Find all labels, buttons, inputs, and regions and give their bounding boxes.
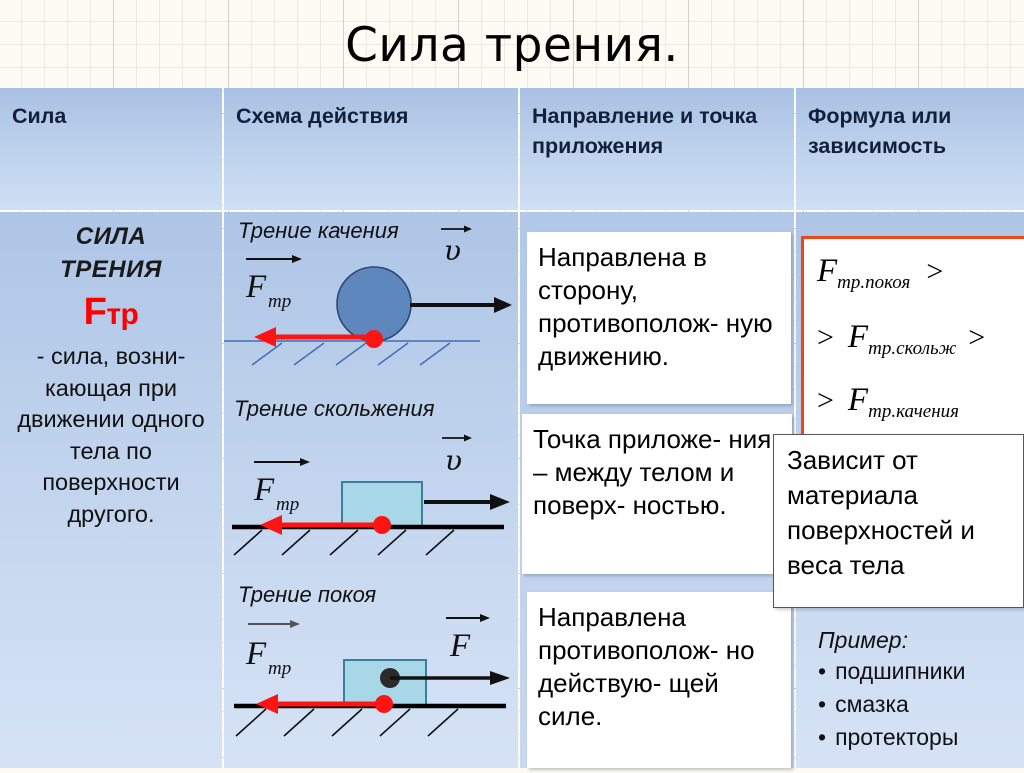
svg-text:F: F	[245, 269, 267, 305]
diagram-static-label: Трение покоя	[238, 582, 376, 608]
formula-inequality-box: Fтр.покоя > > Fтр.скольж > > Fтр.качения	[801, 236, 1024, 440]
formula-sub1: тр.покоя	[837, 272, 910, 293]
svg-text:тр: тр	[268, 291, 291, 312]
diagram-rolling-label: Трение качения	[238, 218, 399, 244]
formula-f3: F	[848, 382, 868, 418]
diagram-static-friction: Трение покоя F F тр	[224, 578, 518, 768]
diagram-rolling-friction: Трение качения υ F тр	[224, 212, 518, 398]
force-name-line1: СИЛА	[6, 220, 216, 253]
force-name-line2: ТРЕНИЯ	[6, 253, 216, 286]
formula-f1: F	[817, 253, 837, 289]
diagram-sliding-label: Трение скольжения	[234, 396, 434, 422]
formula-sub2: тр.скольж	[868, 338, 956, 359]
svg-text:υ: υ	[444, 234, 461, 267]
formula-sub3: тр.качения	[868, 401, 959, 422]
table-header-scheme: Схема действия	[224, 88, 518, 210]
force-definition: СИЛА ТРЕНИЯ Fтр - сила, возни- кающая пр…	[0, 212, 222, 530]
list-item: протекторы	[818, 721, 1024, 754]
list-item: смазка	[818, 688, 1024, 721]
formula-row-3: > Fтр.качения	[817, 382, 959, 423]
note-direction-opposite-force: Направлена противополож- но действую- ще…	[527, 592, 791, 768]
example-block: Пример: подшипники смазка протекторы	[796, 618, 1024, 768]
table-header-direction: Направление и точка приложения	[520, 88, 794, 210]
svg-text:F: F	[245, 636, 267, 672]
svg-text:тр: тр	[276, 494, 299, 515]
note-direction-opposite-motion: Направлена в сторону, противополож- ную …	[527, 232, 791, 404]
force-symbol-sub: тр	[106, 298, 138, 331]
svg-text:υ: υ	[445, 444, 462, 477]
force-symbol-main: F	[84, 291, 107, 333]
page-title: Сила трения.	[0, 18, 1024, 73]
depends-on-box: Зависит от материала поверхностей и веса…	[773, 434, 1024, 608]
list-item: подшипники	[818, 655, 1024, 688]
formula-row-1: Fтр.покоя >	[817, 253, 943, 294]
formula-f2: F	[848, 319, 868, 355]
force-definition-text: - сила, возни- кающая при движении одног…	[6, 341, 216, 530]
formula-op-3: >	[817, 384, 834, 417]
diagram-sliding-friction: Трение скольжения υ F тр	[224, 392, 518, 580]
table-header-force: Сила	[0, 88, 222, 210]
example-title: Пример:	[818, 625, 1024, 655]
table-header-formula: Формула или зависимость	[796, 88, 1024, 210]
cell-scheme: Трение качения υ F тр	[224, 212, 518, 768]
svg-text:тр: тр	[268, 658, 291, 679]
cell-force: СИЛА ТРЕНИЯ Fтр - сила, возни- кающая пр…	[0, 212, 222, 768]
force-symbol: Fтр	[6, 286, 216, 341]
formula-op-2-right: >	[968, 321, 985, 354]
example-list: подшипники смазка протекторы	[818, 655, 1024, 754]
svg-text:F: F	[253, 472, 275, 508]
svg-text:F: F	[449, 628, 471, 664]
note-application-point: Точка приложе- ния – между телом и повер…	[522, 414, 792, 574]
formula-op-2-left: >	[817, 321, 834, 354]
formula-op-1: >	[926, 255, 943, 288]
formula-row-2: > Fтр.скольж >	[817, 319, 985, 360]
